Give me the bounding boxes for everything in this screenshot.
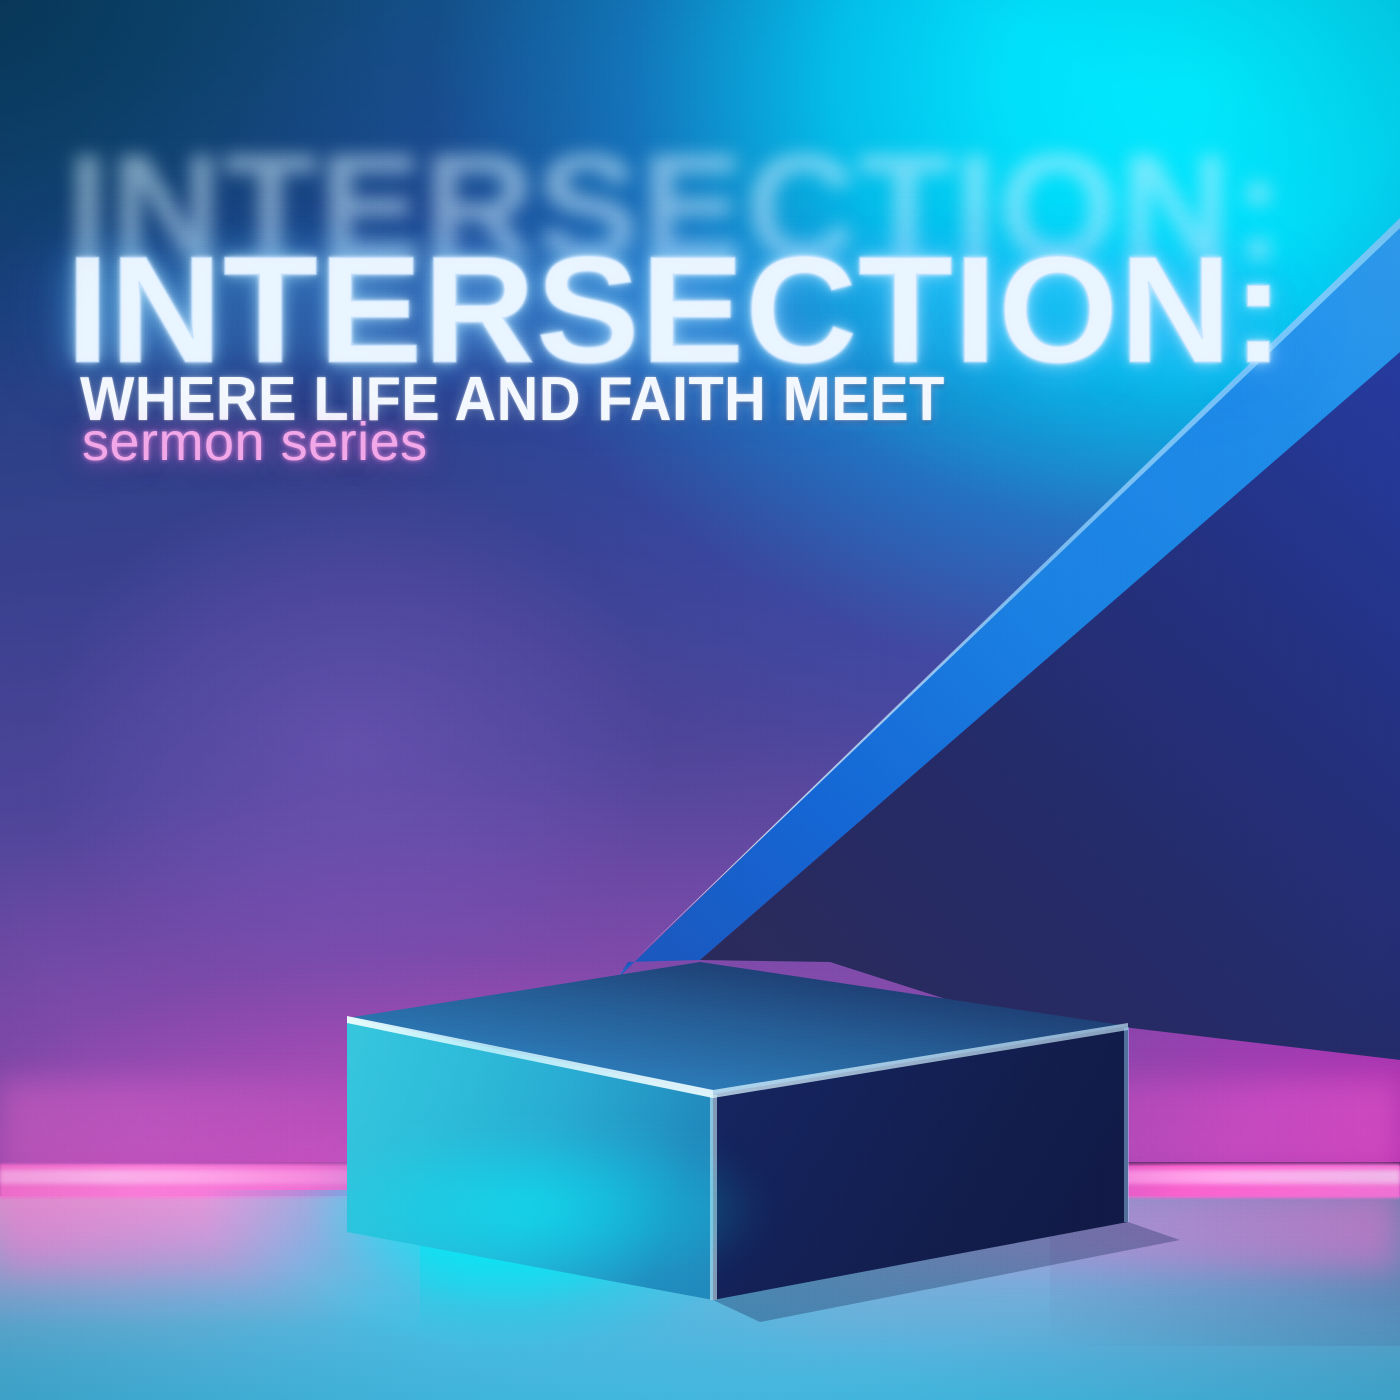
podium-right-edge-highlight: [1124, 1027, 1129, 1222]
podium-base-cyan-glow: [250, 1140, 890, 1340]
poster-eyebrow-label: sermon series: [82, 415, 428, 469]
sermon-series-poster: INTERSECTION: INTERSECTION: WHERE LIFE A…: [0, 0, 1400, 1400]
poster-title: INTERSECTION:: [66, 234, 1285, 386]
